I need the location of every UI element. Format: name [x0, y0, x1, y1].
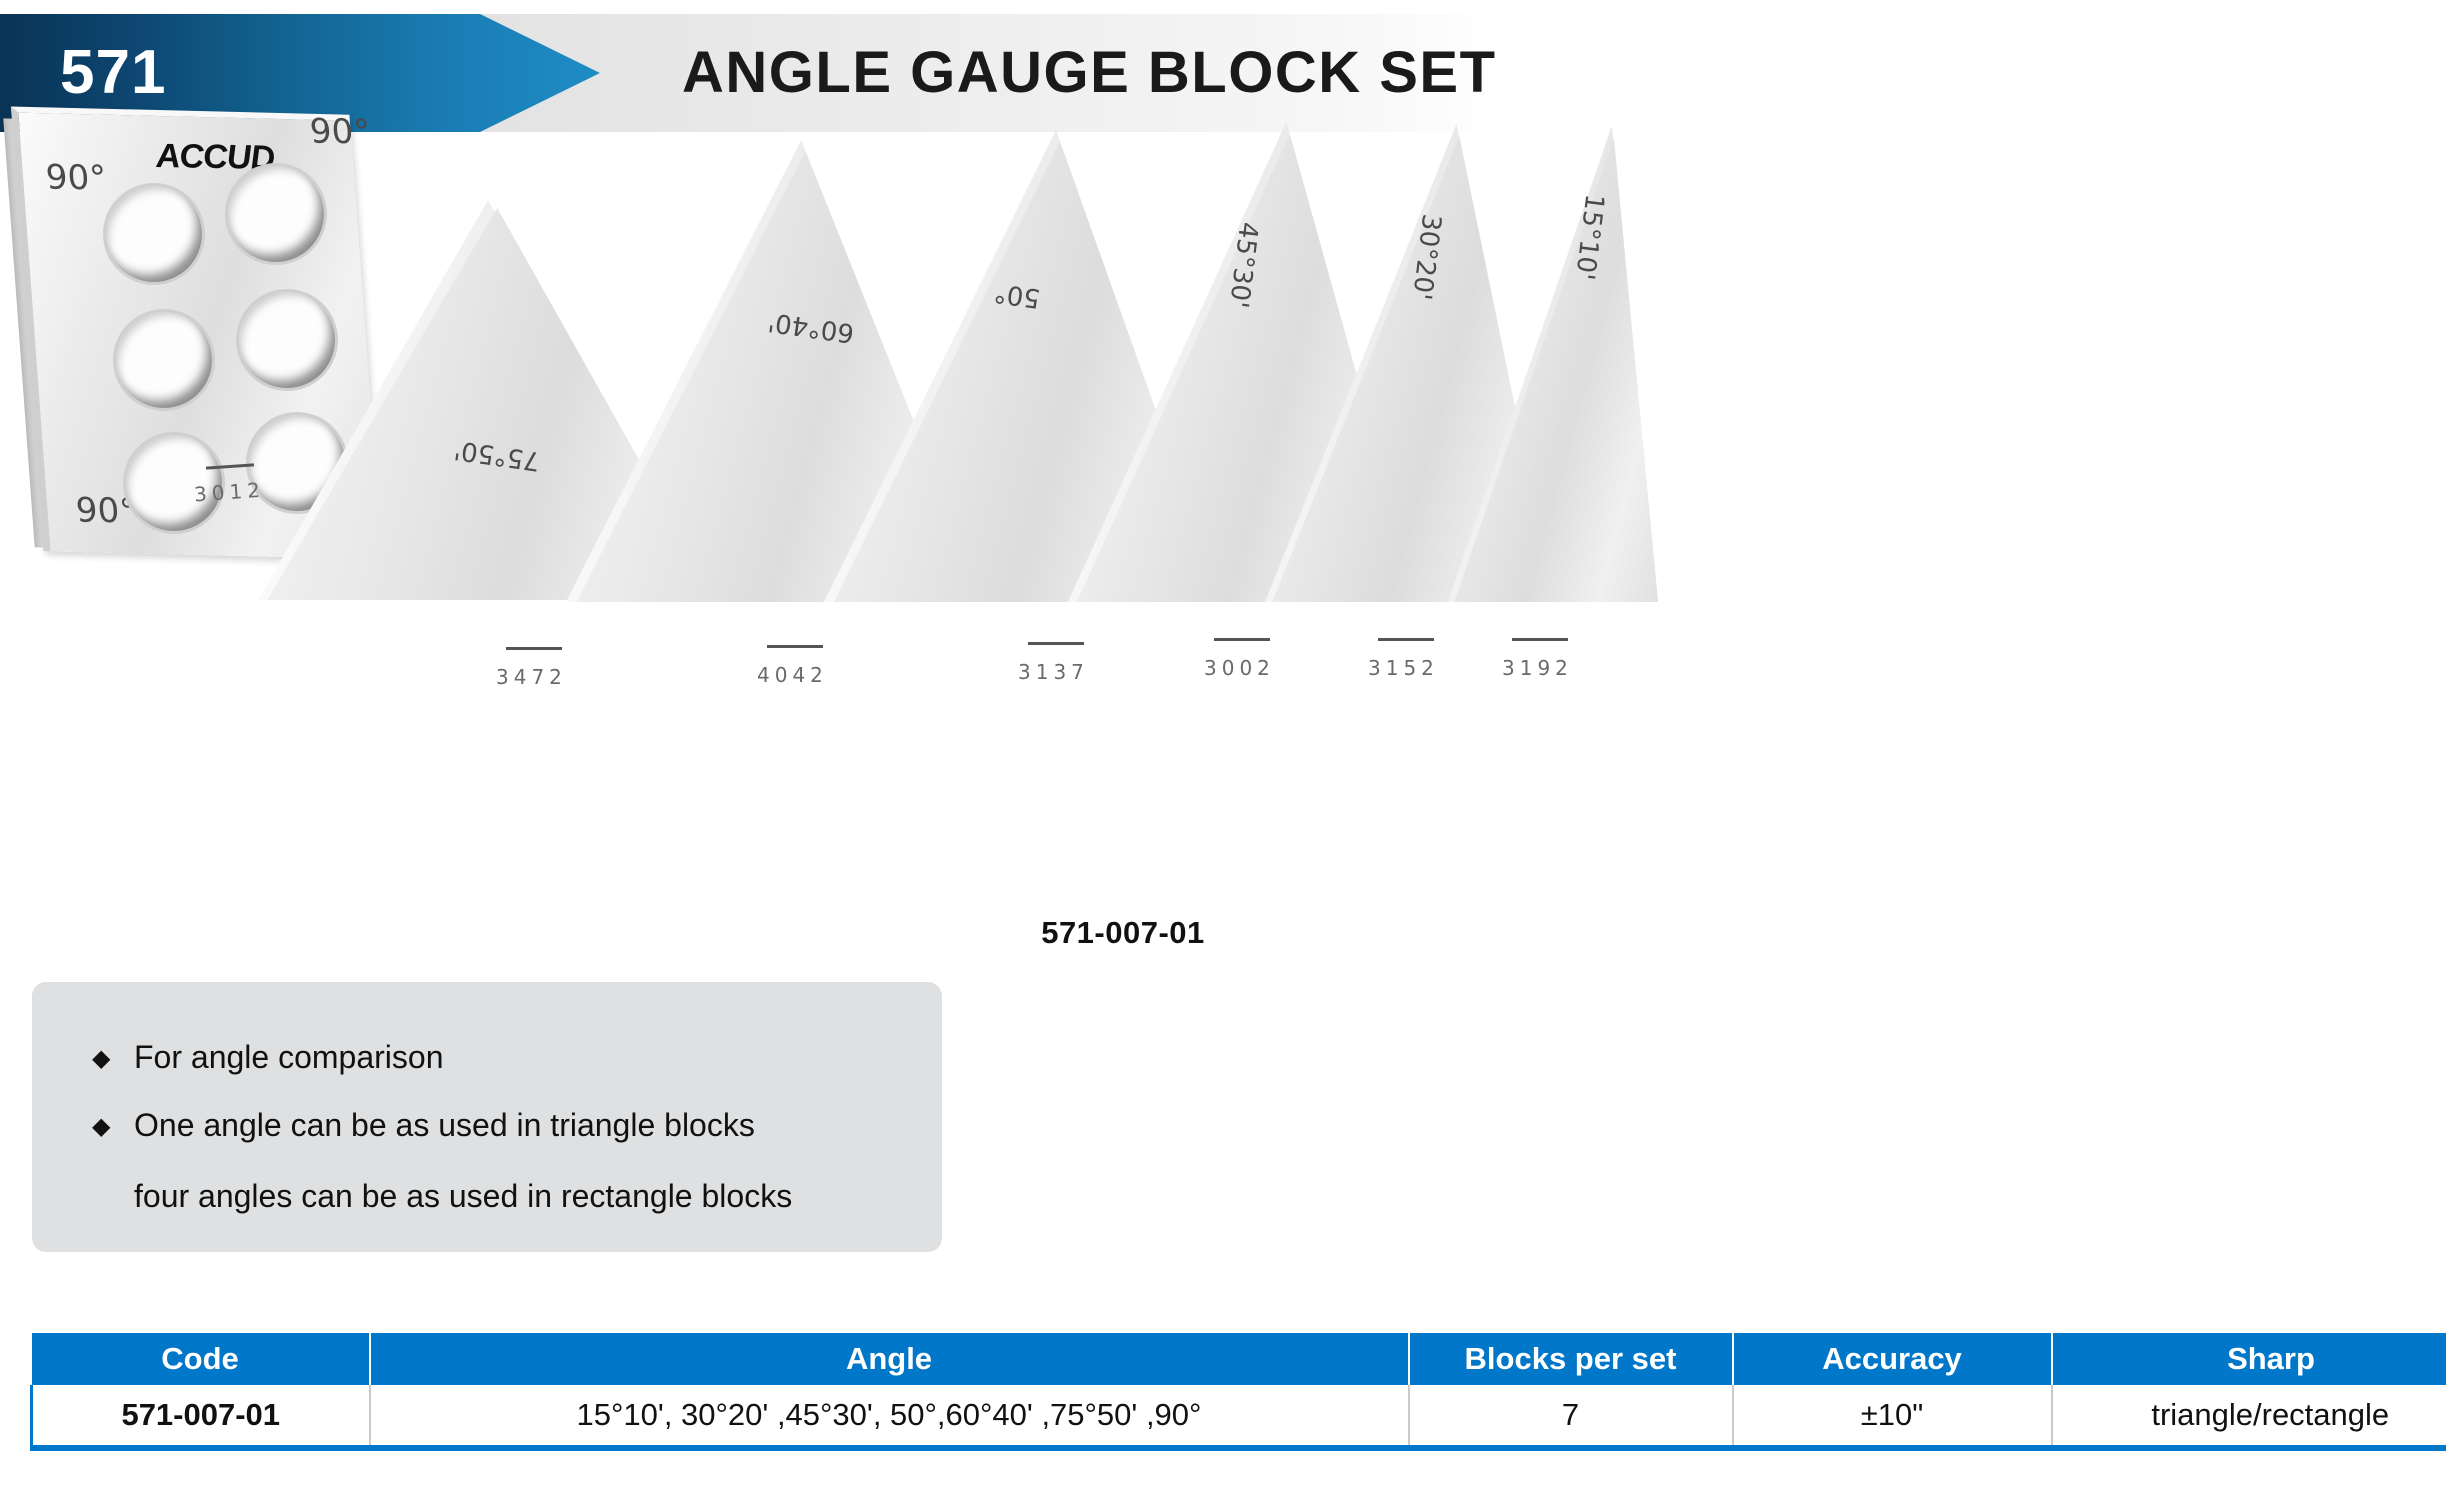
cell-angle: 15°10', 30°20' ,45°30', 50°,60°40' ,75°5… [370, 1385, 1409, 1448]
cell-code: 571-007-01 [32, 1385, 370, 1448]
triangle-serial-3152: 3152 [1368, 656, 1439, 680]
table-row: 571-007-01 15°10', 30°20' ,45°30', 50°,6… [32, 1385, 2446, 1448]
diamond-bullet-icon: ◆ [92, 1108, 110, 1146]
serial-underline [1214, 638, 1270, 641]
serial-underline [1378, 638, 1434, 641]
rectangle-block-hole [116, 312, 212, 408]
page-section-number: 571 [60, 38, 166, 108]
cell-sharp: triangle/rectangle [2052, 1385, 2446, 1448]
feature-text: One angle can be as used in triangle blo… [134, 1106, 755, 1144]
triangle-block-15-10: 15°10' [1448, 126, 1658, 602]
serial-underline [767, 645, 823, 648]
features-box: ◆ For angle comparison ◆ One angle can b… [32, 982, 942, 1252]
angle-mark-90-top-left: 90° [44, 158, 107, 199]
cell-blocks-per-set: 7 [1409, 1385, 1733, 1448]
specification-table: Code Angle Blocks per set Accuracy Sharp… [30, 1333, 2420, 1451]
serial-underline [506, 647, 562, 650]
column-header-sharp: Sharp [2052, 1333, 2446, 1385]
column-header-blocks-per-set: Blocks per set [1409, 1333, 1733, 1385]
table-header-row: Code Angle Blocks per set Accuracy Sharp [32, 1333, 2446, 1385]
product-code-caption: 571-007-01 [1041, 915, 1205, 950]
column-header-accuracy: Accuracy [1733, 1333, 2052, 1385]
triangle-serial-3192: 3192 [1502, 656, 1573, 680]
serial-underline [1512, 638, 1568, 641]
feature-text-continuation: four angles can be as used in rectangle … [134, 1178, 792, 1215]
column-header-angle: Angle [370, 1333, 1409, 1385]
triangle-serial-3137: 3137 [1018, 660, 1089, 684]
product-photo-caption: 571-007-01 [0, 915, 2446, 951]
feature-text: For angle comparison [134, 1038, 443, 1076]
rectangle-block-hole [106, 186, 202, 282]
product-photo: ACCUD 90° 90° 90° 3012 75°50' 3472 60°40… [0, 150, 2446, 910]
triangle-serial-3002: 3002 [1204, 656, 1275, 680]
triangle-serial-4042: 4042 [757, 663, 828, 687]
serial-underline [1028, 642, 1084, 645]
angle-label-50: 50° [992, 277, 1042, 313]
page-title: ANGLE GAUGE BLOCK SET [682, 40, 1497, 106]
column-header-code: Code [32, 1333, 370, 1385]
diamond-bullet-icon: ◆ [92, 1040, 110, 1078]
cell-accuracy: ±10" [1733, 1385, 2052, 1448]
triangle-serial-3472: 3472 [496, 665, 567, 689]
rectangle-block-serial: 3012 [193, 478, 265, 507]
angle-mark-90-top-right: 90° [308, 112, 371, 153]
